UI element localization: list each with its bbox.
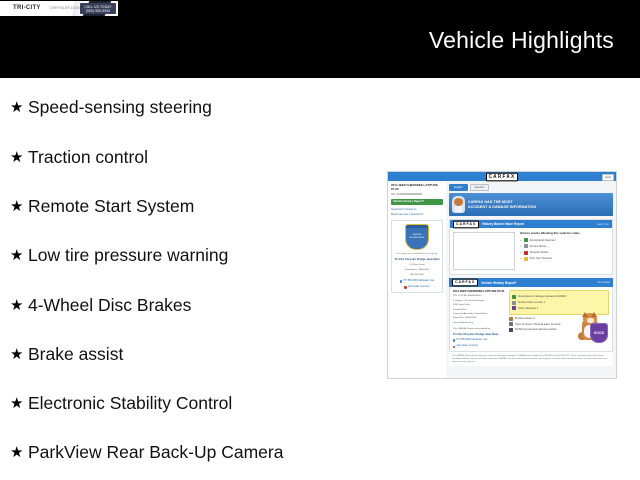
report-findings: No accidents or damage reported to CARFA… (509, 290, 609, 348)
report-meta-line: VIN: 1C4PJMCB3EW000000 (453, 295, 505, 298)
list-item: ★ Traction control (10, 145, 148, 169)
star-bullet-icon: ★ (10, 150, 28, 165)
event-status-icon (524, 238, 528, 242)
phone-icon (400, 280, 402, 282)
star-bullet-icon: ★ (10, 248, 28, 263)
finding-status-icon (509, 322, 513, 326)
list-item: ★ Brake assist (10, 342, 123, 366)
sidebar-inventory-label: View dealer inventory (408, 286, 430, 289)
carfax-help-button: Help (602, 174, 614, 181)
finding-label: Service history records: 4 (518, 301, 545, 304)
finding-row: Owner Reported: 1 (512, 306, 606, 310)
history-events-title: History events affecting this vehicle's … (520, 232, 580, 236)
report-vehicle-title: 2014 JEEP CHEROKEE LATITUDE PLUS (453, 290, 505, 293)
list-item: ★ Speed-sensing steering (10, 95, 212, 119)
feature-label: ParkView Rear Back-Up Camera (28, 442, 283, 462)
report-meta-line: 4 Cylinder 2.4L Gasoline Engine (453, 300, 505, 303)
page-title: Vehicle Highlights (429, 27, 614, 54)
carfax-report-thumbnail: CARFAX Help 2014 JEEP CHEROKEE LATITUDE … (387, 171, 617, 379)
history-event-row: + Personal Vehicle (520, 251, 580, 255)
star-bullet-icon: ★ (10, 100, 28, 115)
history-value-header: CARFAX History Based Value Report Learn … (450, 220, 612, 228)
event-status-icon (524, 251, 528, 255)
finding-label: Previous owners: 1 (515, 317, 535, 320)
report-dealer-web-link[interactable]: View dealer inventory (453, 345, 505, 348)
list-item: ★ Low tire pressure warning (10, 243, 228, 267)
feature-label: Speed-sensing steering (28, 97, 212, 117)
report-dealer-note: This CARFAX Report was provided by: (453, 328, 505, 331)
expand-icon[interactable]: + (520, 257, 522, 260)
carfax-logo: CARFAX (453, 221, 479, 229)
star-bullet-icon: ★ (10, 298, 28, 313)
expand-icon[interactable]: + (520, 251, 522, 254)
carfax-logo: CARFAX (452, 279, 478, 287)
star-bullet-icon: ★ (10, 347, 28, 362)
report-meta-line: Report Run: 00/00/0000 (453, 317, 505, 320)
report-meta-line: FWD Sport Utility (453, 304, 505, 307)
report-detail-link[interactable]: View detailed history (453, 322, 505, 325)
report-highlighted-findings: No accidents or damage reported to CARFA… (509, 290, 609, 314)
sidebar-link-help[interactable]: Need help? Contact us (391, 208, 443, 211)
report-dealer-name: Tri-City Chrysler Dodge Jeep Ram (453, 333, 505, 336)
report-call-dealer-link[interactable]: 877-555-0000 Call dealer now (453, 339, 505, 342)
fox-tail (578, 332, 588, 340)
list-item: ★ Remote Start System (10, 194, 194, 218)
carfax-body: 2014 JEEP CHEROKEE LATITUDE PLUS VIN: 1C… (388, 181, 616, 379)
carfax-main-column: English Español CARFAX HAS THE MOST ACCI… (446, 181, 616, 379)
list-item: ★ Electronic Stability Control (10, 391, 232, 415)
sidebar-vehicle-history-bar: Vehicle History Report* (391, 199, 443, 205)
report-dealer-web: View dealer inventory (456, 345, 478, 348)
history-value-section: CARFAX History Based Value Report Learn … (449, 219, 613, 275)
sidebar-dealer-address-2: Somewhere, USA 00000 (405, 269, 429, 272)
vehicle-history-report-title: Vehicle History Report* (481, 281, 516, 285)
finding-status-icon (509, 328, 513, 332)
sidebar-vin: VIN: 1C4PJMCB3EW000000 (391, 193, 443, 196)
sidebar-dealer-address-1: 123 Main Street (409, 264, 424, 267)
sidebar-dealer-note: This report was provided free of charge … (396, 253, 438, 256)
star-bullet-icon: ★ (10, 199, 28, 214)
shield-subtitle: ADVANTAGE (410, 237, 425, 240)
feature-label: Brake assist (28, 344, 123, 364)
finding-label: 62,000 Last reported odometer reading (515, 328, 556, 331)
finding-status-icon (512, 295, 516, 299)
history-value-link[interactable]: Learn more (597, 223, 609, 226)
carfax-footer-disclaimer: The CARFAX Vehicle History Report is bas… (449, 352, 613, 366)
history-event-row: + Service History (520, 244, 580, 248)
feature-label: Low tire pressure warning (28, 245, 228, 265)
finding-label: Types of owners: Personal lease, Persona… (515, 323, 560, 326)
slide-root: TRI-CITY CHRYSLER DODGE JEEP RAM CALL US… (0, 0, 640, 480)
carfax-sidebar: 2014 JEEP CHEROKEE LATITUDE PLUS VIN: 1C… (388, 181, 446, 379)
promo-line-2: ACCIDENT & DAMAGE INFORMATION (468, 205, 536, 210)
expand-icon[interactable]: + (520, 239, 522, 242)
tab-english[interactable]: English (449, 184, 468, 191)
feature-label: Electronic Stability Control (28, 393, 232, 413)
vehicle-history-report-body: 2014 JEEP CHEROKEE LATITUDE PLUS VIN: 1C… (449, 287, 613, 352)
event-label: No Accidents Reported (530, 239, 556, 242)
globe-icon (453, 346, 455, 348)
sidebar-call-dealer-label: 877-555-0000 Call dealer now (403, 280, 434, 283)
finding-status-icon (512, 306, 516, 310)
header-band: TRI-CITY CHRYSLER DODGE JEEP RAM CALL US… (0, 0, 640, 78)
finding-row: 62,000 Last reported odometer reading (509, 328, 609, 332)
history-events-block: History events affecting this vehicle's … (520, 232, 580, 270)
vehicle-history-report-header: CARFAX Vehicle History Report* View deta… (449, 278, 613, 287)
sidebar-link-questions[interactable]: Report an issue / Questions? (391, 213, 443, 216)
carfax-logo: CARFAX (486, 172, 519, 181)
finding-row: Previous owners: 1 (509, 317, 609, 321)
finding-status-icon (509, 317, 513, 321)
feature-label: Remote Start System (28, 196, 194, 216)
sidebar-dealer-inventory-link[interactable]: View dealer inventory (404, 286, 429, 289)
sidebar-call-dealer-link[interactable]: 877-555-0000 Call dealer now (400, 280, 434, 283)
history-value-body: History events affecting this vehicle's … (450, 228, 612, 274)
globe-icon (404, 286, 406, 288)
carfax-top-bar: CARFAX Help (388, 172, 616, 181)
history-event-row: + Prior Use: Personal (520, 257, 580, 261)
finding-label: Owner Reported: 1 (518, 307, 538, 310)
finding-row: No accidents or damage reported to CARFA… (512, 295, 606, 299)
event-status-icon (524, 257, 528, 261)
sidebar-dealer-name: Tri-City Chrysler Dodge Jeep Ram (394, 258, 439, 261)
carfax-mascot-icon (452, 196, 465, 213)
report-meta-line: Standard Bed (453, 309, 505, 312)
dealer-name: TRI-CITY (13, 4, 41, 12)
finding-status-icon (512, 301, 516, 305)
report-plain-findings: Previous owners: 1 Types of owners: Pers… (509, 317, 609, 332)
vehicle-photo-placeholder (453, 232, 515, 270)
star-bullet-icon: ★ (10, 445, 28, 460)
tab-espanol[interactable]: Español (470, 184, 489, 191)
event-label: Prior Use: Personal (530, 257, 552, 260)
phone-icon (453, 339, 455, 341)
report-vehicle-info: 2014 JEEP CHEROKEE LATITUDE PLUS VIN: 1C… (453, 290, 505, 348)
finding-row: Types of owners: Personal lease, Persona… (509, 322, 609, 326)
vehicle-history-report-link[interactable]: View details (597, 281, 610, 284)
carfax-promo-banner: CARFAX HAS THE MOST ACCIDENT & DAMAGE IN… (449, 193, 613, 216)
report-meta-line: Country of Assembly: United States (453, 313, 505, 316)
finding-label: No accidents or damage reported to CARFA… (518, 295, 566, 298)
event-status-icon (524, 244, 528, 248)
history-value-title: History Based Value Report (482, 222, 524, 226)
feature-label: 4-Wheel Disc Brakes (28, 295, 191, 315)
vehicle-highlights-list: ★ Speed-sensing steering ★ Traction cont… (0, 78, 380, 480)
sidebar-advantage-card: CARFAX ADVANTAGE This report was provide… (391, 220, 443, 293)
sidebar-dealer-phone: 800-555-0000 (410, 274, 424, 277)
dealer-phone-number: (555) 555-5555 (86, 9, 111, 13)
event-label: Service History (530, 245, 547, 248)
feature-label: Traction control (28, 147, 148, 167)
sidebar-vehicle-title: 2014 JEEP CHEROKEE LATITUDE PLUS (391, 184, 443, 192)
dealer-logo-strip: TRI-CITY CHRYSLER DODGE JEEP RAM CALL US… (0, 1, 118, 16)
star-bullet-icon: ★ (10, 396, 28, 411)
report-dealer-phone: 877-555-0000 Call dealer now (456, 339, 487, 342)
event-label: Personal Vehicle (530, 251, 549, 254)
list-item: ★ ParkView Rear Back-Up Camera (10, 440, 283, 464)
expand-icon[interactable]: + (520, 245, 522, 248)
finding-row: Service history records: 4 (512, 301, 606, 305)
list-item: ★ 4-Wheel Disc Brakes (10, 293, 191, 317)
dealer-phone-badge: CALL US TODAY (555) 555-5555 (80, 3, 116, 14)
language-tabs: English Español (449, 184, 613, 191)
history-event-row: + No Accidents Reported (520, 238, 580, 242)
carfax-advantage-shield-icon: CARFAX ADVANTAGE (405, 224, 429, 250)
